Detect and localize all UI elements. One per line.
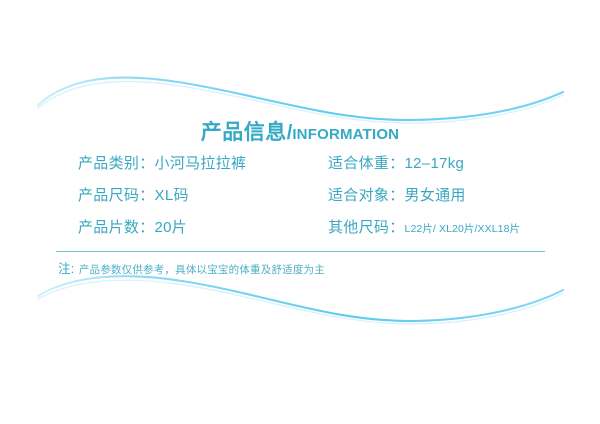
note: 注: 产品参数仅供参考，具体以宝宝的体重及舒适度为主 [58, 258, 325, 278]
spec-label: 其他尺码： [328, 219, 405, 236]
note-divider [56, 251, 545, 252]
spec-value: 男女通用 [405, 187, 466, 204]
spec-label: 适合对象： [328, 187, 405, 204]
spec-row: 产品尺码：XL码 [78, 180, 246, 212]
spec-row: 产品类别：小河马拉拉裤 [78, 148, 246, 180]
spec-row: 适合体重：12–17kg [328, 148, 520, 180]
spec-row: 其他尺码：L22片/ XL20片/XXL18片 [328, 212, 520, 244]
note-prefix: 注: [58, 262, 74, 276]
spec-row: 产品片数：20片 [78, 212, 246, 244]
spec-label: 产品尺码： [78, 187, 155, 204]
spec-value: XL码 [155, 187, 189, 204]
spec-value-other-sizes: L22片/ XL20片/XXL18片 [405, 223, 521, 235]
panel-title-cn: 产品信息 [201, 121, 287, 144]
spec-column-left: 产品类别：小河马拉拉裤 产品尺码：XL码 产品片数：20片 [78, 148, 246, 244]
spec-label: 适合体重： [328, 155, 405, 172]
spec-column-right: 适合体重：12–17kg 适合对象：男女通用 其他尺码：L22片/ XL20片/… [328, 148, 520, 244]
spec-value: 20片 [155, 219, 188, 236]
spec-value: 12–17kg [405, 155, 465, 172]
panel-title-en: INFORMATION [292, 126, 399, 143]
spec-label: 产品片数： [78, 219, 155, 236]
note-text: 产品参数仅供参考，具体以宝宝的体重及舒适度为主 [79, 264, 325, 276]
spec-value: 小河马拉拉裤 [155, 155, 247, 172]
spec-label: 产品类别： [78, 155, 155, 172]
product-info-banner: 产品信息/INFORMATION 产品类别：小河马拉拉裤 产品尺码：XL码 产品… [0, 0, 600, 424]
spec-row: 适合对象：男女通用 [328, 180, 520, 212]
panel-title: 产品信息/INFORMATION [0, 116, 600, 146]
